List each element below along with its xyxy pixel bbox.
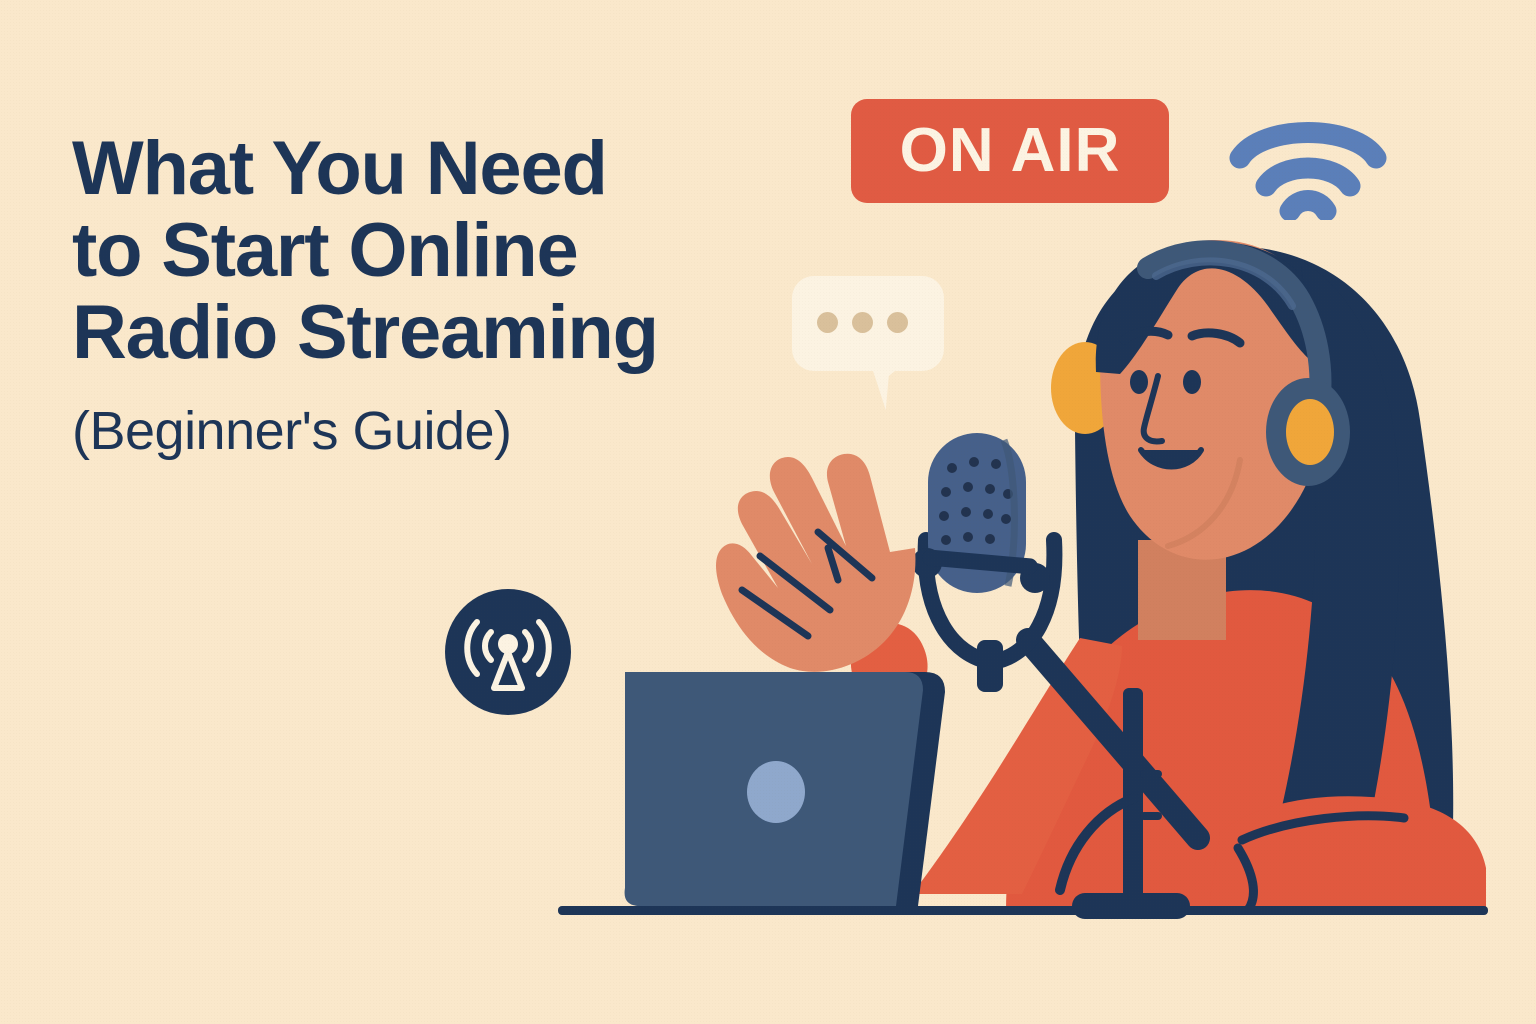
headline-line-2: to Start Online [72, 210, 832, 292]
headline-subtitle: (Beginner's Guide) [72, 400, 832, 462]
wifi-arc-middle [1266, 168, 1350, 186]
poster-canvas: What You Need to Start Online Radio Stre… [0, 0, 1536, 1024]
laptop-logo [747, 761, 805, 823]
mic-shaft [977, 640, 1003, 692]
left-hand [716, 454, 915, 672]
headline-block: What You Need to Start Online Radio Stre… [72, 128, 832, 462]
broadcast-tower-icon [444, 588, 572, 716]
wifi-arc-inner [1290, 201, 1326, 212]
headline-line-3: Radio Streaming [72, 292, 832, 374]
headline-line-1: What You Need [72, 128, 832, 210]
on-air-label: ON AIR [900, 120, 1121, 182]
speech-bubble-dot-3 [887, 312, 908, 333]
speech-bubble-dot-2 [852, 312, 873, 333]
wifi-icon [1228, 112, 1388, 220]
eye-right [1183, 370, 1201, 394]
headphone-cup-right-inner [1286, 399, 1334, 465]
eye-left [1130, 370, 1148, 394]
mic-stand-knob-2 [1140, 812, 1162, 820]
wifi-arc-outer [1240, 133, 1376, 159]
desk-line [558, 906, 1488, 915]
mic-stand-knob-1 [1140, 770, 1162, 778]
on-air-badge: ON AIR [851, 99, 1169, 203]
